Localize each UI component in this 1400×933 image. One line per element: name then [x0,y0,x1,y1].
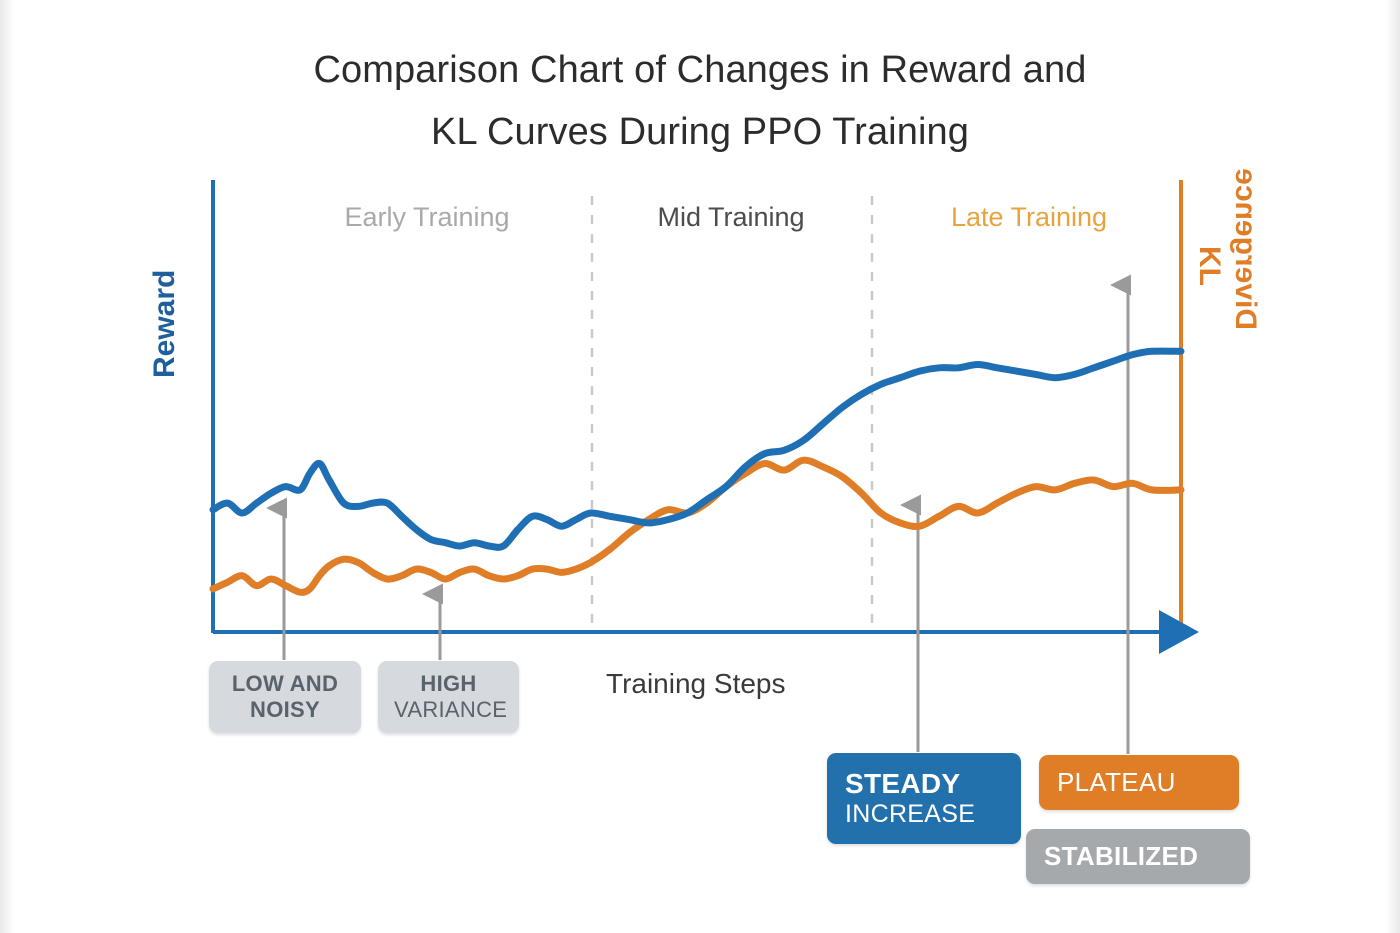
callout-stabilized-line1: STABILIZED [1044,841,1232,872]
callout-plateau[interactable]: PLATEAU [1039,755,1239,810]
callout-high-variance-line2: VARIANCE [394,697,503,723]
x-axis-label: Training Steps [606,668,786,700]
callout-stabilized[interactable]: STABILIZED [1026,829,1250,884]
callout-low-and-noisy-line1: LOW AND [225,671,345,697]
callout-high-variance[interactable]: HIGH VARIANCE [378,661,519,733]
phase-label-late-training: Late Training [951,202,1107,233]
y-axis-right-label-kl: KL [1192,246,1226,286]
reward-curve [213,351,1181,547]
callout-steady-increase-line2: INCREASE [845,800,1003,830]
y-axis-right-label: Divergence KL [1228,168,1262,330]
chart-canvas: Comparison Chart of Changes in Reward an… [0,0,1400,933]
callout-low-and-noisy[interactable]: LOW AND NOISY [209,661,361,733]
phase-label-mid-training: Mid Training [657,202,804,233]
callout-plateau-line1: PLATEAU [1057,767,1221,798]
callout-steady-increase[interactable]: STEADY INCREASE [827,753,1021,844]
callout-high-variance-line1: HIGH [394,671,503,697]
phase-label-early-training: Early Training [344,202,509,233]
callout-low-and-noisy-line2: NOISY [225,697,345,723]
phase-dividers [592,196,872,630]
kl-divergence-curve [213,460,1181,592]
y-axis-left-label: Reward [148,270,182,378]
callout-steady-increase-line1: STEADY [845,767,1003,800]
y-axis-right-label-main: Divergence [1229,168,1262,330]
